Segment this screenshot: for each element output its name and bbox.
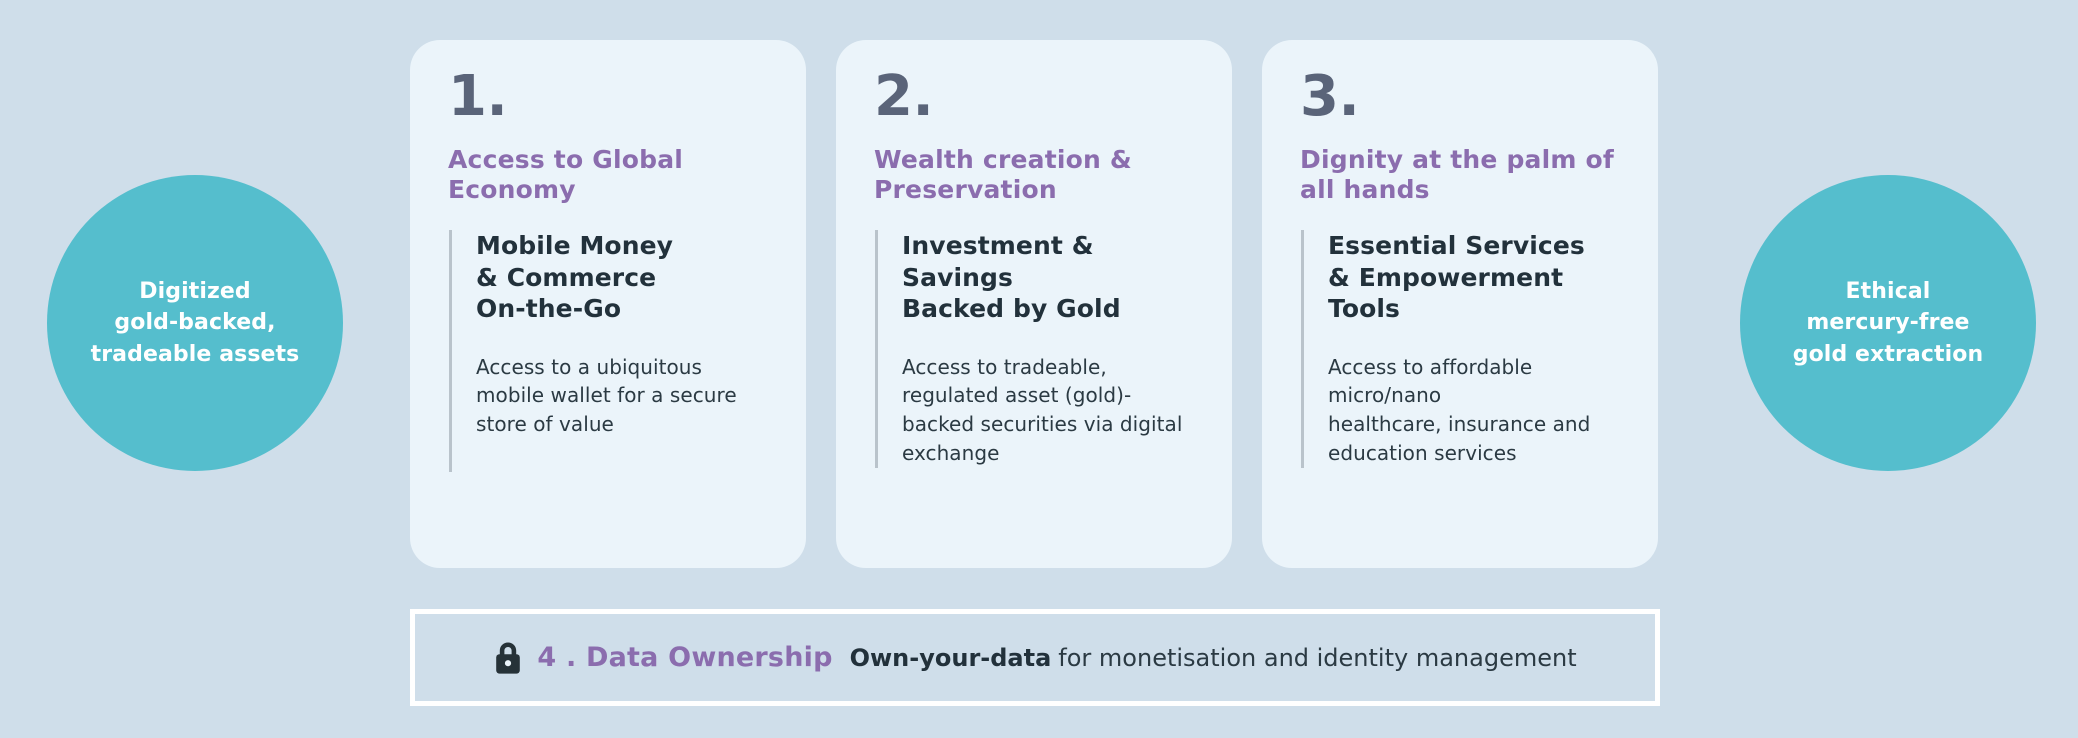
card-3-number: 3. <box>1300 70 1622 123</box>
card-3-subtitle: Dignity at the palm of all hands <box>1300 145 1622 204</box>
banner-content: 4 . Data Ownership Own-your-data for mon… <box>493 641 1576 675</box>
banner-strong-text: Own-your-data <box>850 644 1052 672</box>
card-3-heading: Essential Services & Empowerment Tools <box>1328 230 1622 325</box>
card-2-heading: Investment & Savings Backed by Gold <box>902 230 1196 325</box>
left-highlight-circle: Digitized gold-backed, tradeable assets <box>47 175 343 471</box>
card-3-description: Access to affordable micro/nano healthca… <box>1328 353 1622 468</box>
pillar-card-2: 2. Wealth creation & Preservation Invest… <box>836 40 1232 568</box>
card-2-subtitle: Wealth creation & Preservation <box>874 145 1196 204</box>
card-3-body: Essential Services & Empowerment Tools A… <box>1301 230 1622 468</box>
banner-title: 4 . Data Ownership <box>537 642 832 673</box>
card-1-body: Mobile Money & Commerce On-the-Go Access… <box>449 230 737 472</box>
card-1-description: Access to a ubiquitous mobile wallet for… <box>476 353 737 439</box>
right-circle-label: Ethical mercury-free gold extraction <box>1775 276 2002 370</box>
banner-rest-text: for monetisation and identity management <box>1058 644 1576 672</box>
pillar-card-1: 1. Access to Global Economy Mobile Money… <box>410 40 806 568</box>
data-ownership-banner: 4 . Data Ownership Own-your-data for mon… <box>410 609 1660 706</box>
card-1-number: 1. <box>448 70 770 123</box>
infographic-canvas: Digitized gold-backed, tradeable assets … <box>0 0 2078 738</box>
card-2-number: 2. <box>874 70 1196 123</box>
card-2-description: Access to tradeable, regulated asset (go… <box>902 353 1196 468</box>
lock-icon <box>493 641 523 675</box>
card-1-heading: Mobile Money & Commerce On-the-Go <box>476 230 737 325</box>
card-2-body: Investment & Savings Backed by Gold Acce… <box>875 230 1196 468</box>
left-circle-label: Digitized gold-backed, tradeable assets <box>73 276 318 370</box>
right-highlight-circle: Ethical mercury-free gold extraction <box>1740 175 2036 471</box>
card-1-subtitle: Access to Global Economy <box>448 145 770 204</box>
pillar-card-3: 3. Dignity at the palm of all hands Esse… <box>1262 40 1658 568</box>
